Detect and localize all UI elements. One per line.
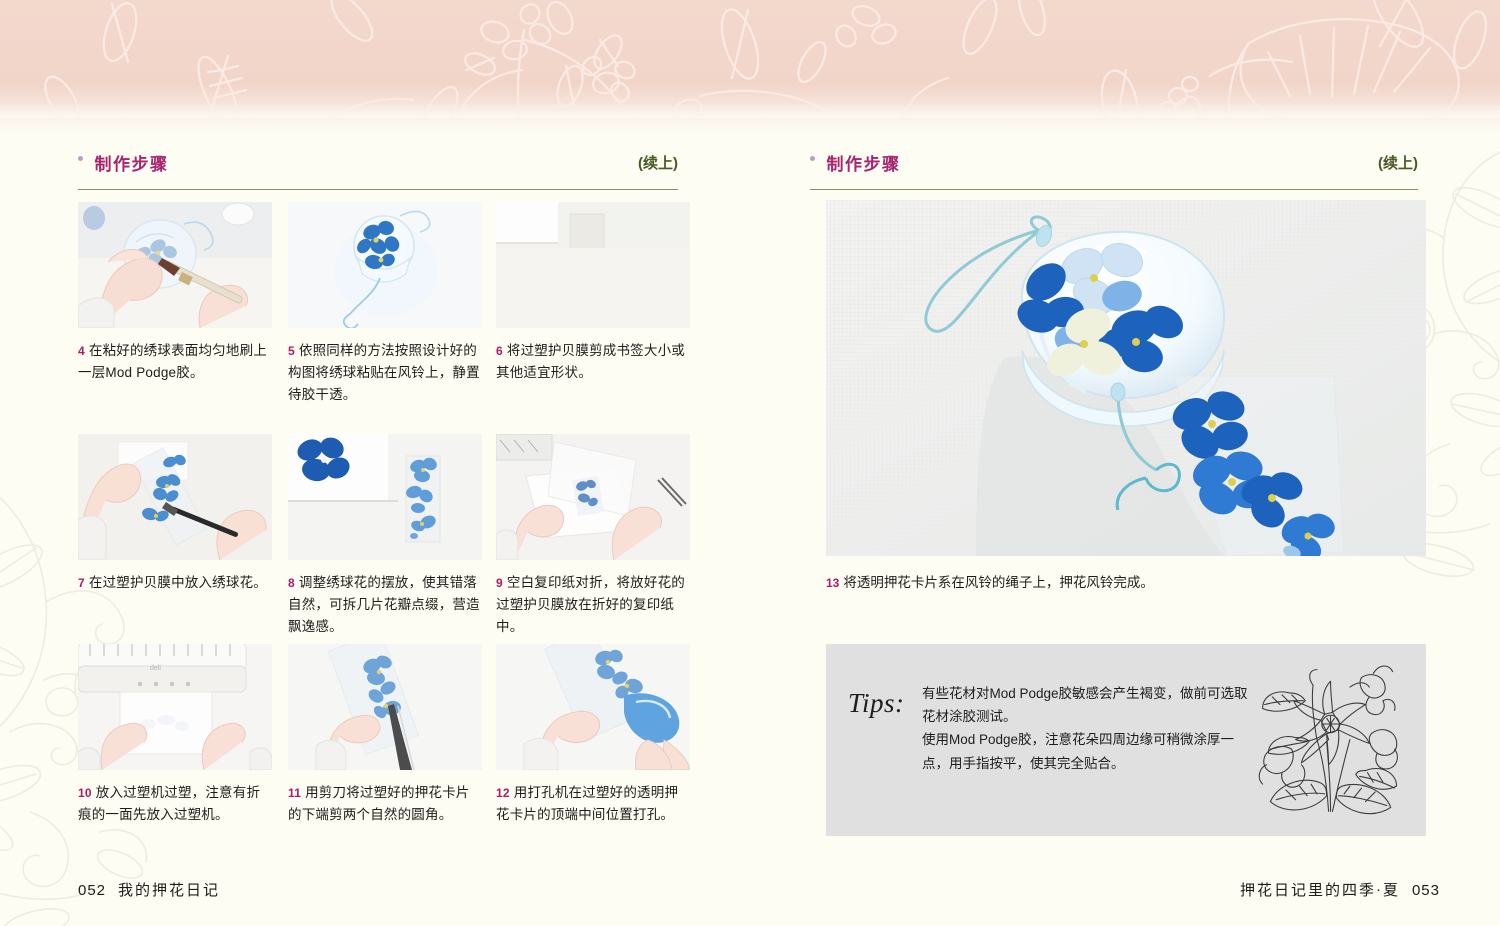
tips-body: 有些花材对Mod Podge胶敏感会产生褐变，做前可选取花材涂胶测试。 使用Mo… xyxy=(922,682,1252,775)
step-number-11: 11 xyxy=(288,786,301,800)
right-header-continued: (续上) xyxy=(1378,152,1418,173)
step-number-6: 6 xyxy=(496,344,503,358)
caption-step-13: 13将透明押花卡片系在风铃的绳子上，押花风铃完成。 xyxy=(826,572,1426,594)
banner-bottom-fade xyxy=(0,0,1500,118)
photo-step-12 xyxy=(496,644,690,770)
tips-line-1: 有些花材对Mod Podge胶敏感会产生褐变，做前可选取花材涂胶测试。 xyxy=(922,682,1252,728)
arranging-petals-on-film-strip-illustration xyxy=(288,434,482,560)
photo-step-6 xyxy=(496,202,690,328)
banner-edge xyxy=(0,118,1500,132)
laminating-film-cut-to-bookmark-size-illustration xyxy=(496,202,690,328)
glass-wind-chime-with-blue-petals-illustration xyxy=(288,202,482,328)
caption-step-11: 11用剪刀将过塑好的押花卡片的下端剪两个自然的圆角。 xyxy=(288,782,482,826)
hand-brushing-glue-on-glass-bell-illustration xyxy=(78,202,272,328)
hero-photo xyxy=(826,200,1426,556)
step-text-13: 将透明押花卡片系在风铃的绳子上，押花风铃完成。 xyxy=(843,575,1154,590)
step-number-4: 4 xyxy=(78,344,85,358)
right-folio: 押花日记里的四季·夏053 xyxy=(1240,879,1440,900)
step-text-6: 将过塑护贝膜剪成书签大小或其他适宜形状。 xyxy=(496,343,685,380)
header-bullet-icon xyxy=(810,156,815,161)
header-bullet-icon xyxy=(78,156,83,161)
caption-step-6: 6将过塑护贝膜剪成书签大小或其他适宜形状。 xyxy=(496,340,690,384)
tips-label: Tips: xyxy=(848,688,905,719)
photo-step-4 xyxy=(78,202,272,328)
left-section-header: 制作步骤 (续上) xyxy=(78,150,678,190)
right-page: 制作步骤 (续上) xyxy=(750,132,1500,926)
photo-step-7 xyxy=(78,434,272,560)
step-text-9: 空白复印纸对折，将放好花的过塑护贝膜放在折好的复印纸中。 xyxy=(496,575,685,634)
clematis-line-drawing-icon xyxy=(1249,658,1414,823)
placing-hydrangea-petals-on-film-illustration xyxy=(78,434,272,560)
left-page: 制作步骤 (续上) xyxy=(0,132,750,926)
tips-box: Tips: 有些花材对Mod Podge胶敏感会产生褐变，做前可选取花材涂胶测试… xyxy=(826,644,1426,836)
step-number-5: 5 xyxy=(288,344,295,358)
step-text-11: 用剪刀将过塑好的押花卡片的下端剪两个自然的圆角。 xyxy=(288,785,470,822)
caption-step-8: 8调整绣球花的摆放，使其错落自然，可拆几片花瓣点缀，营造飘逸感。 xyxy=(288,572,482,638)
feeding-sheet-into-laminator-illustration: deli xyxy=(78,644,272,770)
tips-line-2: 使用Mod Podge胶，注意花朵四周边缘可稍微涂厚一点，用手指按平，使其完全贴… xyxy=(922,728,1252,774)
caption-step-10: 10放入过塑机过塑，注意有折痕的一面先放入过塑机。 xyxy=(78,782,272,826)
finished-pressed-flower-wind-chime-illustration xyxy=(826,200,1426,556)
folding-copy-paper-over-film-illustration xyxy=(496,434,690,560)
left-header-rule xyxy=(78,189,678,190)
left-header-continued: (续上) xyxy=(638,152,678,173)
trimming-corners-with-scissors-illustration xyxy=(288,644,482,770)
step-number-13: 13 xyxy=(826,576,839,590)
left-book-title: 我的押花日记 xyxy=(118,883,220,899)
photo-step-10: deli xyxy=(78,644,272,770)
caption-step-12: 12用打孔机在过塑好的透明押花卡片的顶端中间位置打孔。 xyxy=(496,782,690,826)
photo-step-11 xyxy=(288,644,482,770)
caption-step-4: 4在粘好的绣球表面均匀地刷上一层Mod Podge胶。 xyxy=(78,340,272,384)
right-book-title: 押花日记里的四季·夏 xyxy=(1240,883,1400,899)
right-header-rule xyxy=(810,189,1418,190)
book-spread: 制作步骤 (续上) xyxy=(0,132,1500,926)
right-page-number: 053 xyxy=(1412,882,1440,899)
caption-step-7: 7在过塑护贝膜中放入绣球花。 xyxy=(78,572,272,594)
right-header-title: 制作步骤 xyxy=(826,150,900,175)
step-text-12: 用打孔机在过塑好的透明押花卡片的顶端中间位置打孔。 xyxy=(496,785,678,822)
step-number-9: 9 xyxy=(496,576,503,590)
right-section-header: 制作步骤 (续上) xyxy=(810,150,1418,190)
step-text-7: 在过塑护贝膜中放入绣球花。 xyxy=(89,575,267,590)
photo-step-8 xyxy=(288,434,482,560)
step-text-4: 在粘好的绣球表面均匀地刷上一层Mod Podge胶。 xyxy=(78,343,267,380)
photo-step-9 xyxy=(496,434,690,560)
step-text-10: 放入过塑机过塑，注意有折痕的一面先放入过塑机。 xyxy=(78,785,260,822)
left-folio: 052我的押花日记 xyxy=(78,879,220,900)
step-number-10: 10 xyxy=(78,786,92,800)
decorative-banner xyxy=(0,0,1500,118)
step-text-8: 调整绣球花的摆放，使其错落自然，可拆几片花瓣点缀，营造飘逸感。 xyxy=(288,575,480,634)
punching-hole-in-card-illustration xyxy=(496,644,690,770)
step-number-12: 12 xyxy=(496,786,510,800)
step-text-5: 依照同样的方法按照设计好的构图将绣球粘贴在风铃上，静置待胶干透。 xyxy=(288,343,480,402)
step-number-7: 7 xyxy=(78,576,85,590)
svg-text:deli: deli xyxy=(150,665,161,672)
left-page-number: 052 xyxy=(78,882,106,899)
photo-step-5 xyxy=(288,202,482,328)
left-header-title: 制作步骤 xyxy=(94,150,168,175)
caption-step-9: 9空白复印纸对折，将放好花的过塑护贝膜放在折好的复印纸中。 xyxy=(496,572,690,638)
caption-step-5: 5依照同样的方法按照设计好的构图将绣球粘贴在风铃上，静置待胶干透。 xyxy=(288,340,482,406)
step-number-8: 8 xyxy=(288,576,295,590)
